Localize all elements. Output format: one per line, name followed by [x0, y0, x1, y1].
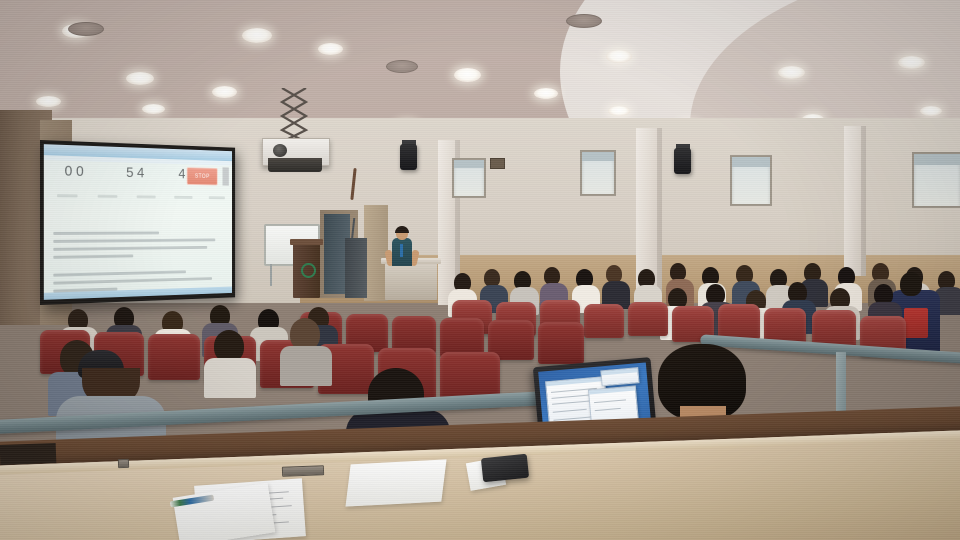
wall-window: [580, 150, 616, 196]
wall-plaque: [490, 158, 505, 169]
projector-body: [268, 158, 322, 172]
projector-scissor-lift: [272, 88, 318, 142]
lectern: [385, 262, 437, 300]
presenter-hair: [395, 226, 409, 233]
screen-text-line: [53, 239, 215, 243]
screen-scrollbar[interactable]: [222, 167, 228, 185]
downlight: [778, 66, 805, 79]
downlight: [608, 106, 630, 116]
screen-faint-label: [137, 195, 156, 198]
window-text-line: [553, 409, 587, 413]
screen-faint-label: [57, 194, 77, 197]
whiteboard-leg: [270, 264, 272, 286]
window-titlebar: [601, 368, 637, 375]
presenter-lanyard: [400, 244, 403, 257]
window-shade: [454, 160, 484, 168]
av-equipment-rack: [345, 238, 367, 298]
desk-dark-edge-left: [0, 443, 56, 465]
window-shade: [732, 157, 770, 167]
timer-minutes: 54: [126, 164, 147, 181]
black-notebook[interactable]: [481, 454, 529, 483]
scissor-lift-arms: [272, 88, 318, 142]
wall-window: [912, 152, 960, 208]
window-text-line: [552, 395, 590, 399]
timer-hours: 00: [65, 163, 88, 180]
downlight: [898, 56, 925, 69]
audience-torso: [280, 346, 332, 386]
downlight: [454, 68, 481, 82]
auditorium-seat[interactable]: [538, 322, 584, 364]
downlight: [534, 88, 558, 99]
projector-lens-icon: [273, 144, 287, 157]
auditorium-seat[interactable]: [148, 334, 200, 380]
screen-text-line: [53, 255, 133, 259]
desk-cable-port[interactable]: [282, 465, 324, 476]
screen-faint-label: [98, 195, 118, 198]
downlight: [606, 50, 632, 63]
downlight: [142, 104, 165, 114]
screen-faint-label: [174, 196, 192, 199]
downlight: [36, 96, 61, 107]
projection-screen[interactable]: 00 54 48 STOP: [40, 140, 235, 305]
auditorium-seat[interactable]: [584, 304, 624, 338]
wall-speaker: [400, 144, 417, 170]
dialog-text-line: [594, 399, 626, 403]
audience-torso: [204, 358, 256, 398]
screen-faint-label: [209, 196, 225, 199]
wooden-podium: [293, 243, 320, 298]
desk-cable-port[interactable]: [118, 459, 129, 468]
wall-speaker: [674, 148, 691, 174]
ceiling-vent: [386, 60, 418, 73]
screen-text-line: [53, 246, 207, 251]
wall-window: [730, 155, 772, 206]
screen-text-line: [53, 231, 159, 234]
screen-text-line: [53, 270, 186, 276]
downlight: [242, 28, 272, 43]
podium-top: [290, 239, 323, 245]
laptop-window-small: [600, 367, 639, 386]
downlight: [920, 106, 942, 116]
downlight: [126, 72, 154, 85]
downlight: [212, 86, 237, 98]
lecture-hall-photo: 00 54 48 STOP: [0, 0, 960, 540]
ceiling-vent: [566, 14, 602, 28]
window-shade: [582, 152, 614, 161]
window-shade: [914, 154, 960, 165]
column-shading: [861, 126, 866, 276]
blank-paper-sheet[interactable]: [345, 459, 446, 506]
stop-button[interactable]: STOP: [187, 167, 218, 185]
projection-screen-content: 00 54 48 STOP: [44, 144, 232, 300]
wall-window: [452, 158, 486, 198]
podium-logo-icon: [301, 263, 316, 278]
ceiling-vent: [68, 22, 104, 36]
screen-text-line: [53, 277, 212, 284]
downlight: [318, 43, 343, 55]
window-titlebar: [546, 377, 604, 386]
dialog-text-line: [595, 408, 621, 411]
wall-column: [844, 126, 866, 276]
